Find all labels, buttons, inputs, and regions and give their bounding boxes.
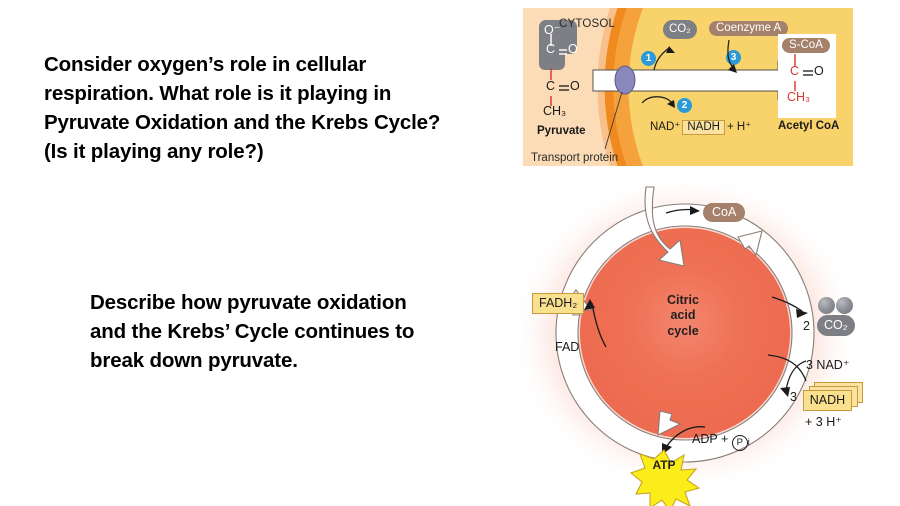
co2-ball-icon — [818, 297, 835, 314]
cycle-title-line-3: cycle — [643, 324, 723, 339]
acetyl-coa-label: Acetyl CoA — [778, 120, 839, 132]
atp-label: ATP — [640, 458, 688, 472]
coa-pill: CoA — [703, 203, 745, 222]
citric-acid-cycle-title: Citric acid cycle — [643, 293, 723, 339]
question-text-oxygen-role: Consider oxygen’s role in cellular respi… — [44, 50, 454, 166]
cycle-title-line-1: Citric — [643, 293, 723, 308]
nadh-stack: NADH — [803, 382, 861, 410]
acetyl-atom-c: C — [790, 64, 799, 78]
citric-acid-cycle-diagram: Citric acid cycle CoA 2 CO₂ 3 NAD⁺ 3 NAD… — [500, 175, 900, 506]
h-plus-label: + 3 H⁺ — [805, 414, 842, 429]
adp-text: ADP + — [692, 432, 728, 446]
acetyl-atom-o: O — [814, 64, 824, 78]
co2-output-pill: CO₂ — [817, 315, 855, 336]
co2-ball-icon — [836, 297, 853, 314]
acetyl-coa-bonds — [523, 8, 853, 166]
adp-pi-label: ADP + Pi — [692, 432, 750, 451]
nadh-card-front: NADH — [803, 390, 852, 411]
question-text-describe-pyruvate: Describe how pyruvate oxidation and the … — [90, 288, 420, 375]
pyruvate-oxidation-diagram: O⁻ C O C O CH₃ CYTOSOL Pyruvate Transpor… — [523, 8, 853, 166]
nad-plus-input-label: 3 NAD⁺ — [806, 357, 849, 372]
cycle-title-line-2: acid — [643, 308, 723, 323]
phosphate-icon: P — [732, 435, 748, 451]
fadh2-box: FADH₂ — [532, 293, 584, 314]
acetyl-atom-ch3: CH₃ — [787, 90, 810, 104]
co2-count-label: 2 — [803, 319, 810, 333]
nadh-count-label: 3 — [790, 390, 797, 404]
phosphate-subscript: i — [748, 437, 750, 447]
fad-label: FAD — [555, 340, 579, 354]
